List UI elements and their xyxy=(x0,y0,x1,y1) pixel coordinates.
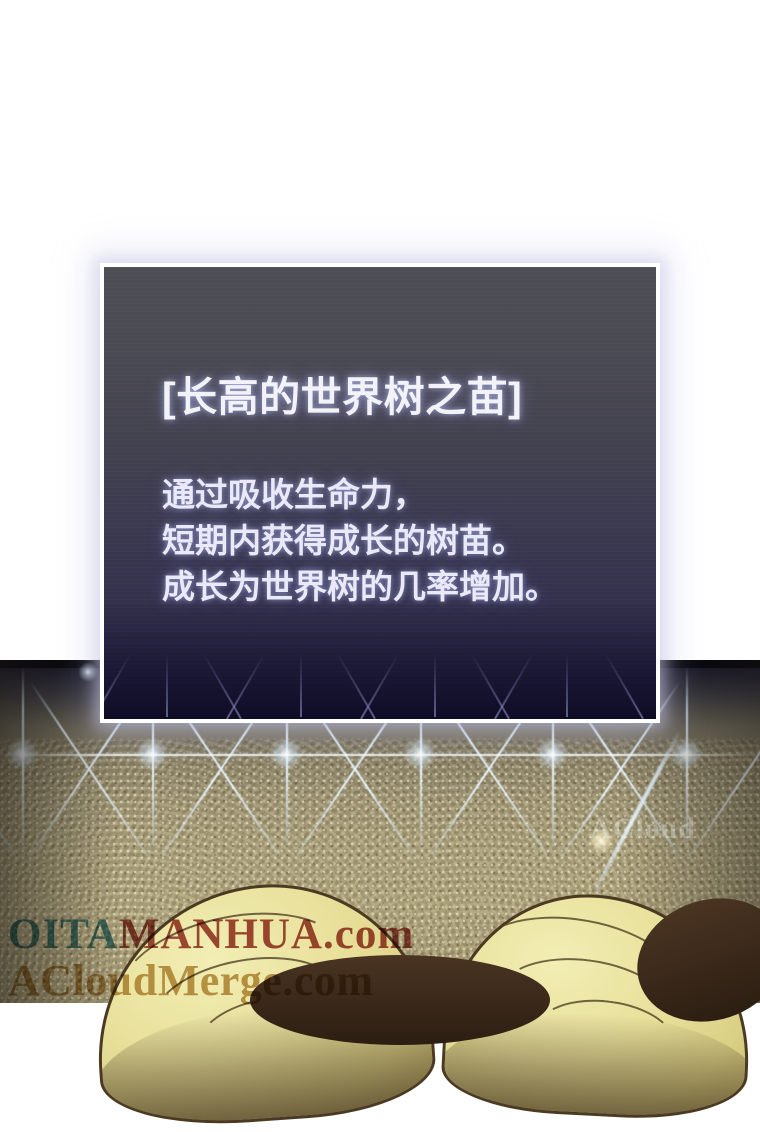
panel-description: 通过吸收生命力， 短期内获得成长的树苗。 成长为世界树的几率增加。 xyxy=(162,472,632,610)
dark-branch-shape xyxy=(250,955,550,1045)
panel-show-through-lattice xyxy=(104,653,656,719)
panel-description-line-1: 通过吸收生命力， xyxy=(162,472,632,518)
status-message-panel[interactable]: [长高的世界树之苗] 通过吸收生命力， 短期内获得成长的树苗。 成长为世界树的几… xyxy=(100,263,660,723)
panel-description-line-2: 短期内获得成长的树苗。 xyxy=(162,518,632,564)
panel-description-line-3: 成长为世界树的几率增加。 xyxy=(162,564,632,610)
panel-inner: [长高的世界树之苗] 通过吸收生命力， 短期内获得成长的树苗。 成长为世界树的几… xyxy=(104,267,656,719)
panel-title: [长高的世界树之苗] xyxy=(162,363,522,423)
page-background: [长高的世界树之苗] 通过吸收生命力， 短期内获得成长的树苗。 成长为世界树的几… xyxy=(0,0,760,1003)
